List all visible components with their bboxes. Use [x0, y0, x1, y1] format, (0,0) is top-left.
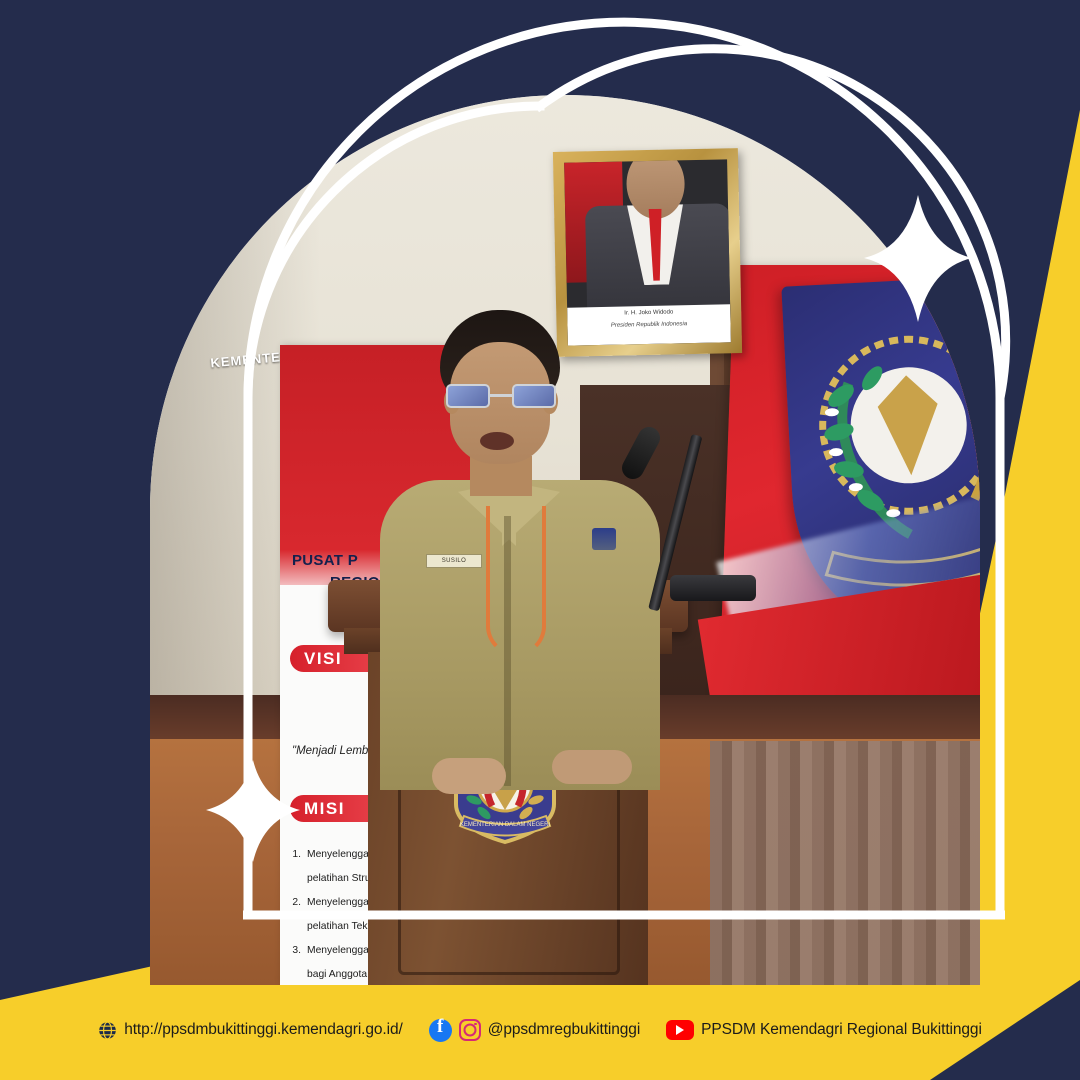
event-photo: KEMENTERIAN DAL PUSAT P REGION VISI "Men…: [150, 95, 980, 985]
name-tag: SUSILO: [426, 554, 482, 568]
speaker-figure: SUSILO: [374, 310, 664, 790]
svg-text:KEMENTERIAN DALAM NEGERI: KEMENTERIAN DALAM NEGERI: [460, 822, 551, 828]
facebook-icon[interactable]: [429, 1019, 452, 1042]
microphone-base: [670, 575, 756, 601]
footer-bar: http://ppsdmbukittinggi.kemendagri.go.id…: [0, 980, 1080, 1080]
website-link[interactable]: http://ppsdmbukittinggi.kemendagri.go.id…: [98, 1021, 403, 1040]
youtube-link[interactable]: PPSDM Kemendagri Regional Bukittinggi: [666, 1020, 982, 1040]
glasses-bridge: [490, 394, 512, 397]
mouth: [480, 432, 514, 450]
social-handle[interactable]: @ppsdmregbukittinggi: [429, 1019, 640, 1042]
wood-panel-lower: [710, 741, 980, 985]
misi-item-number: 3.: [288, 941, 301, 961]
youtube-icon[interactable]: [666, 1020, 694, 1040]
shoulder-badge: [592, 528, 616, 550]
lanyard: [486, 506, 546, 656]
lens-right: [512, 384, 556, 408]
eyeglasses: [446, 384, 556, 408]
misi-item-number: 2.: [288, 893, 301, 913]
social-handle-label: @ppsdmregbukittinggi: [488, 1021, 640, 1039]
hand-right: [552, 750, 632, 784]
lens-left: [446, 384, 490, 408]
misi-item-number: 1.: [288, 845, 301, 865]
hand-left: [432, 758, 506, 794]
website-url: http://ppsdmbukittinggi.kemendagri.go.id…: [124, 1021, 403, 1039]
globe-icon: [98, 1021, 117, 1040]
youtube-channel-label: PPSDM Kemendagri Regional Bukittinggi: [701, 1021, 982, 1039]
instagram-icon[interactable]: [459, 1019, 481, 1041]
poster-canvas: KEMENTERIAN DAL PUSAT P REGION VISI "Men…: [0, 0, 1080, 1080]
